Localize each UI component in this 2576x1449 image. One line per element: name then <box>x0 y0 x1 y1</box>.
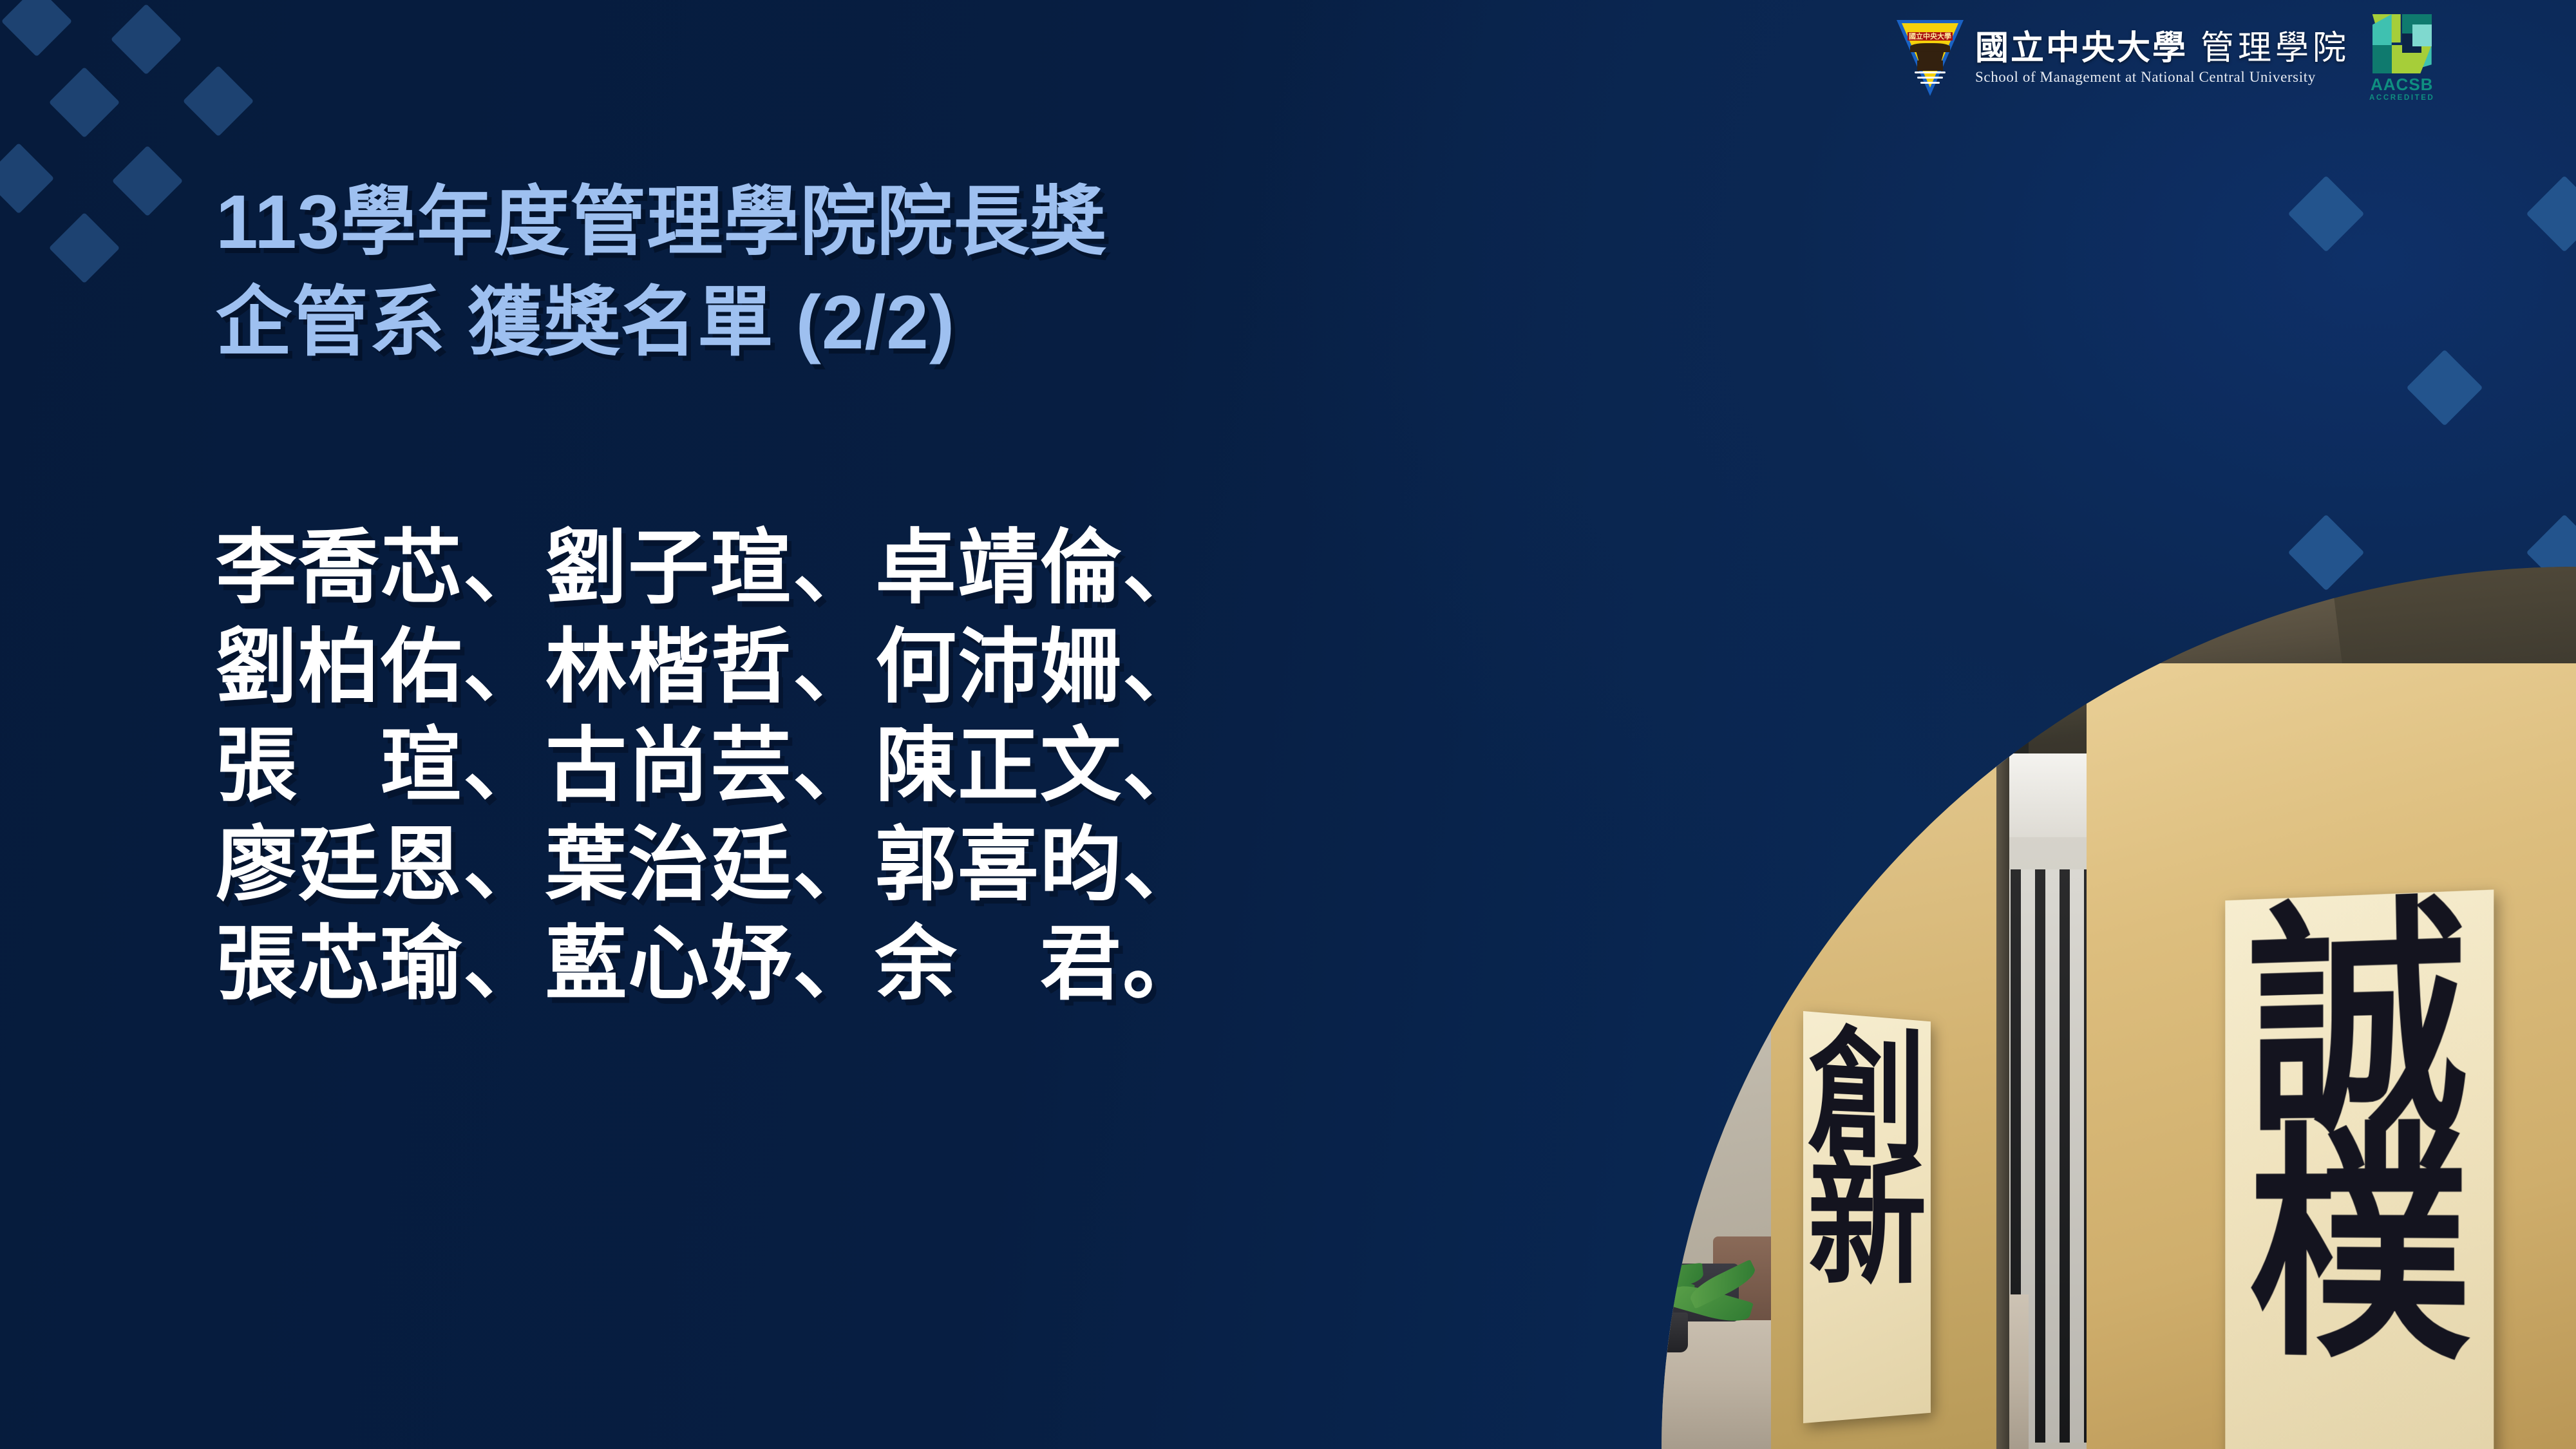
recipient-line: 廖廷恩、葉治廷、郭喜昀、 <box>216 815 1205 914</box>
aacsb-accreditation-badge: AACSB ACCREDITED <box>2369 14 2434 102</box>
aacsb-status-label: ACCREDITED <box>2369 95 2434 102</box>
campus-photo: 創新 誠樸 <box>1501 567 2576 1449</box>
calligraphy-text-left: 創新 <box>1803 1028 1931 1287</box>
logo-name-cn-primary: 國立中央大學 <box>1975 30 2188 67</box>
aacsb-wordmark: AACSB <box>2371 76 2433 93</box>
calligraphy-text-right: 誠樸 <box>2225 905 2494 1361</box>
slide-canvas: 創新 誠樸 國立中央大學 國立中央大學管理學院 School of <box>0 0 2576 1449</box>
recipient-name-list: 李喬芯、劉子瑄、卓靖倫、劉柏佑、林楷哲、何沛姍、張 瑄、古尚芸、陳正文、廖廷恩、… <box>216 518 1205 1014</box>
ncu-crest-icon: 國立中央大學 <box>1897 20 1964 96</box>
recipient-line: 張 瑄、古尚芸、陳正文、 <box>216 716 1205 815</box>
title-line-2: 企管系 獲獎名單 (2/2) <box>216 273 1106 374</box>
recipient-line: 劉柏佑、林楷哲、何沛姍、 <box>216 618 1205 717</box>
title-line-1: 113學年度管理學院院長獎 <box>216 173 1106 273</box>
calligraphy-scroll-integrity: 誠樸 <box>2225 889 2494 1449</box>
school-logo: 國立中央大學 國立中央大學管理學院 School of Management a… <box>1897 14 2434 102</box>
crest-characters: 國立中央大學 <box>1908 32 1953 41</box>
logo-name-row: 國立中央大學管理學院 <box>1975 31 2350 66</box>
slide-title: 113學年度管理學院院長獎企管系 獲獎名單 (2/2) <box>216 173 1106 374</box>
logo-name-en: School of Management at National Central… <box>1975 69 2350 86</box>
calligraphy-scroll-innovation: 創新 <box>1803 1011 1931 1423</box>
aacsb-logo-icon <box>2372 14 2432 73</box>
recipient-line: 張芯瑜、藍心妤、余 君。 <box>216 914 1205 1014</box>
recipient-line: 李喬芯、劉子瑄、卓靖倫、 <box>216 518 1205 618</box>
logo-text-block: 國立中央大學管理學院 School of Management at Natio… <box>1975 31 2350 86</box>
logo-name-cn-secondary: 管理學院 <box>2201 30 2350 67</box>
